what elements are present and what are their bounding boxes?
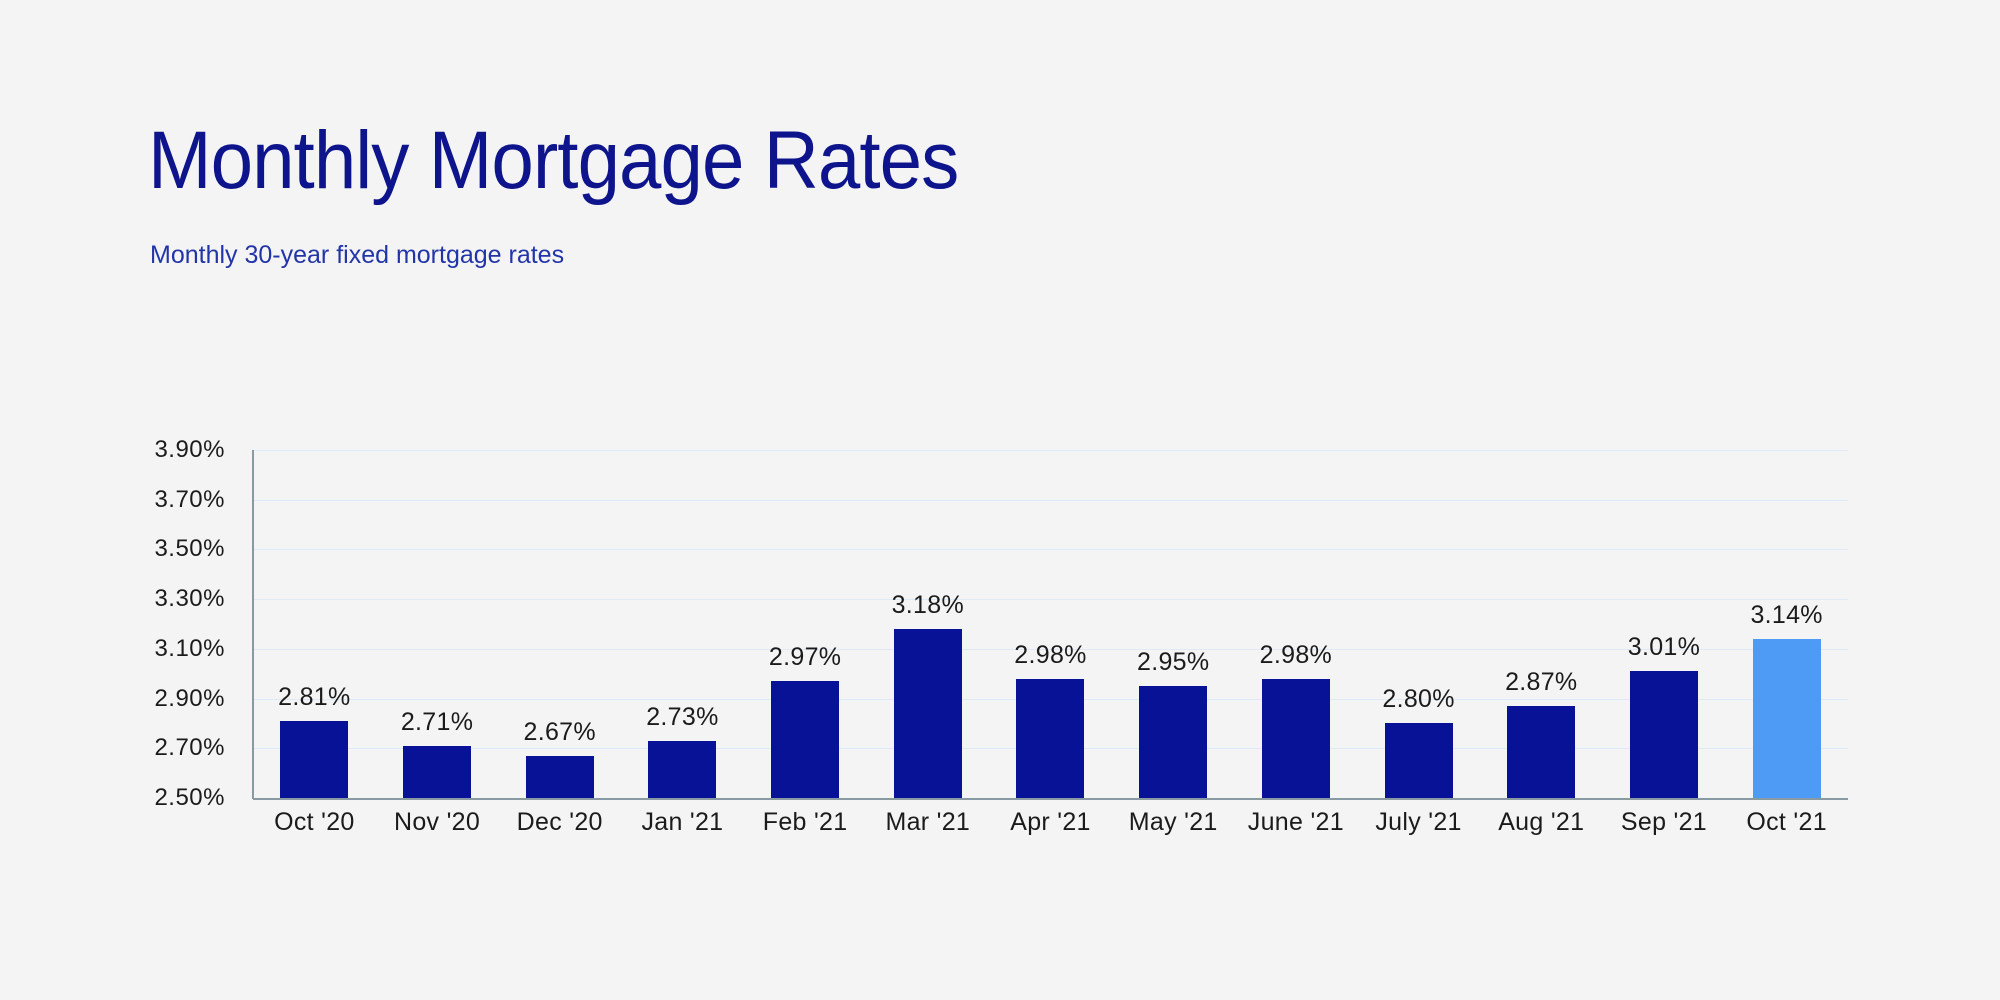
x-axis-line	[253, 798, 1848, 800]
bar-group[interactable]: 2.81%Oct '20	[253, 450, 376, 798]
bar[interactable]	[1016, 679, 1084, 798]
x-axis-tick-label: Oct '21	[1746, 808, 1827, 837]
y-axis-tick-label: 3.70%	[154, 486, 225, 514]
bar[interactable]	[771, 681, 839, 798]
bar-group[interactable]: 3.01%Sep '21	[1603, 450, 1726, 798]
y-axis-tick-label: 3.10%	[154, 635, 225, 663]
x-axis-tick-label: Aug '21	[1498, 808, 1584, 837]
y-axis-tick-label: 2.70%	[154, 734, 225, 762]
bar-value-label: 3.14%	[1750, 601, 1822, 630]
bar-value-label: 2.81%	[278, 683, 350, 712]
chart-bars: 2.81%Oct '202.71%Nov '202.67%Dec '202.73…	[253, 450, 1848, 798]
y-axis-tick-label: 2.90%	[154, 685, 225, 713]
bar-value-label: 2.71%	[401, 708, 473, 737]
y-axis-tick-label: 3.30%	[154, 585, 225, 613]
bar-group[interactable]: 2.71%Nov '20	[376, 450, 499, 798]
y-axis-tick-label: 3.50%	[154, 535, 225, 563]
bar[interactable]	[1262, 679, 1330, 798]
x-axis-tick-label: Sep '21	[1621, 808, 1707, 837]
bar-group[interactable]: 2.95%May '21	[1112, 450, 1235, 798]
x-axis-tick-label: June '21	[1248, 808, 1344, 837]
bar-value-label: 2.98%	[1260, 641, 1332, 670]
x-axis-tick-label: July '21	[1375, 808, 1461, 837]
bar-value-label: 2.95%	[1137, 648, 1209, 677]
y-axis-tick-label: 3.90%	[154, 436, 225, 464]
bar-value-label: 2.80%	[1382, 685, 1454, 714]
bar-group[interactable]: 2.98%Apr '21	[989, 450, 1112, 798]
bar-group[interactable]: 2.80%July '21	[1357, 450, 1480, 798]
x-axis-tick-label: Dec '20	[517, 808, 603, 837]
x-axis-tick-label: Oct '20	[274, 808, 355, 837]
x-axis-tick-label: Apr '21	[1010, 808, 1091, 837]
bar-value-label: 2.67%	[524, 718, 596, 747]
bar[interactable]	[1753, 639, 1821, 798]
y-axis-tick-labels: 3.90%3.70%3.50%3.30%3.10%2.90%2.70%2.50%	[0, 450, 240, 798]
bar-value-label: 3.01%	[1628, 633, 1700, 662]
bar-group[interactable]: 2.98%June '21	[1235, 450, 1358, 798]
bar[interactable]	[526, 756, 594, 798]
bar-value-label: 3.18%	[892, 591, 964, 620]
bar-group[interactable]: 2.73%Jan '21	[621, 450, 744, 798]
y-axis-tick-label: 2.50%	[154, 784, 225, 812]
bar-value-label: 2.87%	[1505, 668, 1577, 697]
bar-group[interactable]: 2.87%Aug '21	[1480, 450, 1603, 798]
bar-group[interactable]: 3.14%Oct '21	[1725, 450, 1848, 798]
bar[interactable]	[1385, 723, 1453, 798]
bar-chart: 3.90%3.70%3.50%3.30%3.10%2.90%2.70%2.50%…	[0, 0, 2000, 1000]
bar-group[interactable]: 2.97%Feb '21	[744, 450, 867, 798]
bar-value-label: 2.97%	[769, 643, 841, 672]
bar-group[interactable]: 2.67%Dec '20	[498, 450, 621, 798]
bar[interactable]	[894, 629, 962, 798]
bar-value-label: 2.73%	[646, 703, 718, 732]
bar[interactable]	[648, 741, 716, 798]
bar[interactable]	[403, 746, 471, 798]
bar[interactable]	[1507, 706, 1575, 798]
x-axis-tick-label: Mar '21	[885, 808, 970, 837]
x-axis-tick-label: Nov '20	[394, 808, 480, 837]
x-axis-tick-label: Jan '21	[641, 808, 723, 837]
x-axis-tick-label: Feb '21	[763, 808, 848, 837]
bar[interactable]	[280, 721, 348, 798]
slide-canvas: Monthly Mortgage Rates Monthly 30-year f…	[0, 0, 2000, 1000]
bar-group[interactable]: 3.18%Mar '21	[866, 450, 989, 798]
bar[interactable]	[1630, 671, 1698, 798]
bar-value-label: 2.98%	[1014, 641, 1086, 670]
bar[interactable]	[1139, 686, 1207, 798]
x-axis-tick-label: May '21	[1129, 808, 1218, 837]
